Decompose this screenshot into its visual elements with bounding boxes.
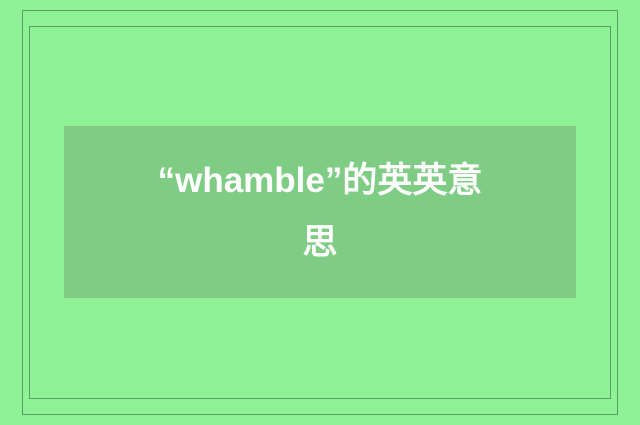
page-title: “whamble”的英英意思 xyxy=(150,150,490,274)
image-canvas: “whamble”的英英意思 xyxy=(0,0,640,425)
title-banner: “whamble”的英英意思 xyxy=(64,126,576,298)
